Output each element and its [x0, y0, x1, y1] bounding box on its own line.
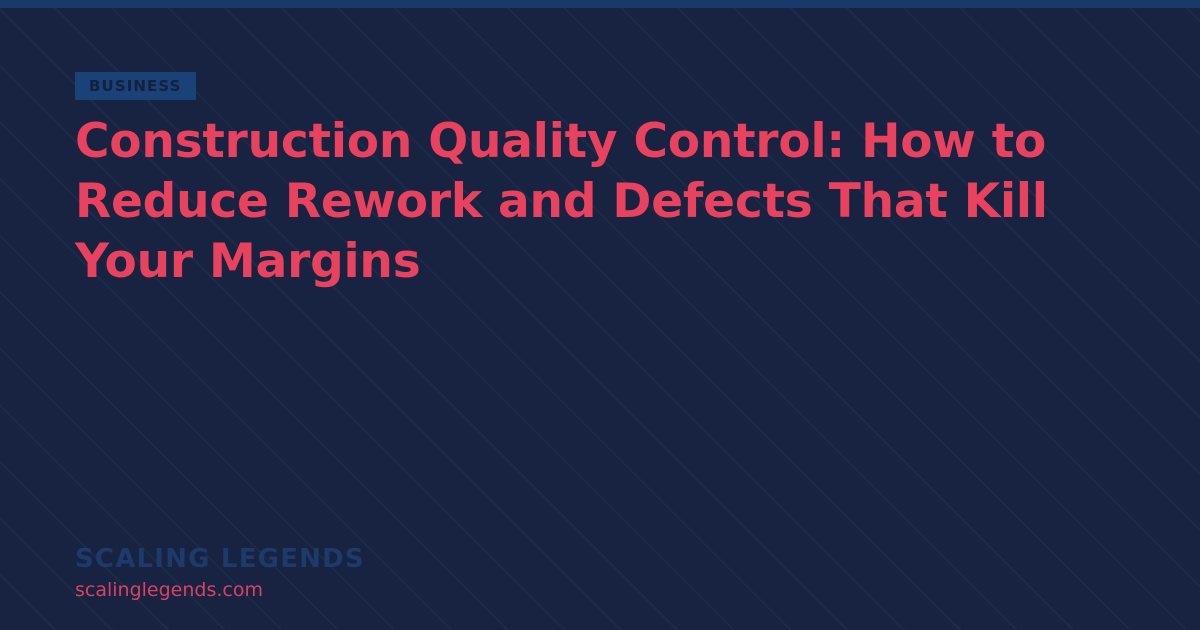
site-url[interactable]: scalinglegends.com — [75, 578, 365, 602]
page-title: Construction Quality Control: How to Red… — [75, 112, 1085, 292]
card-content: BUSINESS Construction Quality Control: H… — [75, 0, 1125, 630]
category-badge[interactable]: BUSINESS — [75, 72, 196, 100]
social-share-card: BUSINESS Construction Quality Control: H… — [0, 0, 1200, 630]
card-footer: SCALING LEGENDS scalinglegends.com — [75, 544, 365, 602]
brand-name: SCALING LEGENDS — [75, 544, 365, 574]
